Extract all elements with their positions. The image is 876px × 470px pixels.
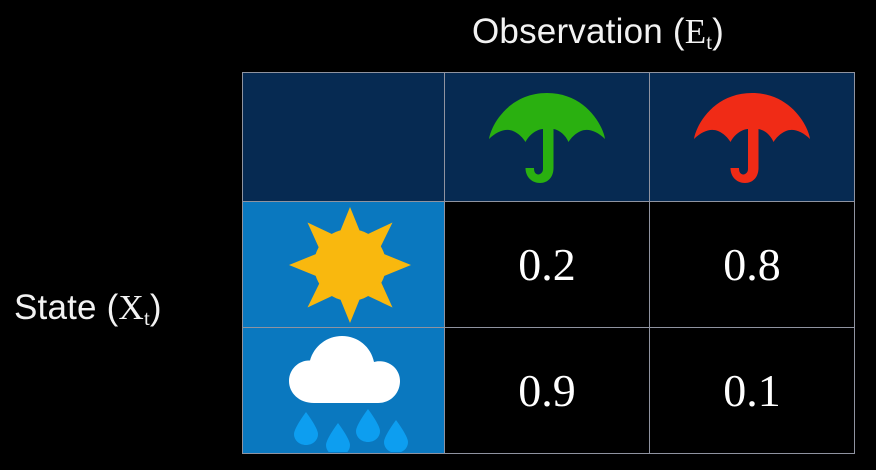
table-row: 0.9 0.1 [243, 328, 855, 454]
column-header-red-umbrella [650, 73, 855, 202]
column-header-green-umbrella [445, 73, 650, 202]
row-header-rainy [243, 328, 445, 454]
cell-sunny-red-umbrella: 0.8 [650, 202, 855, 328]
umbrella-red-icon [650, 73, 854, 201]
observation-model-table: 0.2 0.8 [242, 72, 855, 454]
state-label-open: ( [97, 288, 119, 327]
rain-cloud-icon [243, 328, 446, 453]
table-header-row [243, 73, 855, 202]
sun-icon [243, 202, 450, 327]
cell-sunny-green-umbrella: 0.2 [445, 202, 650, 328]
row-header-sunny [243, 202, 445, 328]
cell-rainy-green-umbrella: 0.9 [445, 328, 650, 454]
observation-variable: E [685, 12, 707, 51]
slide-canvas: Observation (Et) State (Xt) [0, 0, 876, 470]
observation-label-text: Observation [472, 12, 663, 51]
state-label-close: ) [150, 288, 162, 327]
umbrella-green-icon [445, 73, 649, 201]
table-corner-cell [243, 73, 445, 202]
state-axis-label: State (Xt) [14, 288, 162, 331]
observation-label-open: ( [663, 12, 685, 51]
table-row: 0.2 0.8 [243, 202, 855, 328]
observation-label-close: ) [712, 12, 724, 51]
state-variable: X [119, 288, 144, 327]
state-label-text: State [14, 288, 97, 327]
cell-rainy-red-umbrella: 0.1 [650, 328, 855, 454]
observation-axis-label: Observation (Et) [472, 12, 724, 55]
